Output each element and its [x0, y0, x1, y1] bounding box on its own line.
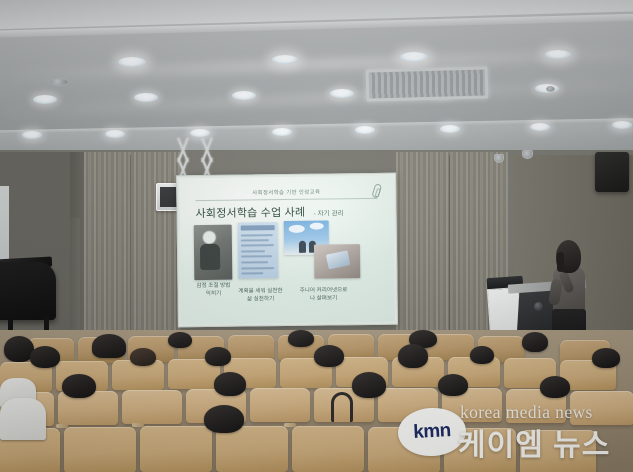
ceiling-light [545, 50, 571, 59]
cloud-shape [310, 223, 324, 230]
attendee-shoulder [0, 398, 46, 440]
armrest [56, 424, 68, 428]
photo-scene: 사회정서학습 기반 인성교육 사회정서학습 수업 사례 - 자기 관리 [0, 0, 633, 472]
ceiling-light [272, 128, 292, 136]
attendee-head [92, 334, 126, 358]
door-edge [70, 218, 80, 330]
attendee-head [205, 347, 231, 366]
ceiling-sheen [0, 46, 633, 82]
attendee-head [168, 332, 192, 348]
ceiling-light [612, 121, 632, 129]
watermark: kmn korea media news 케이엠 뉴스 [398, 396, 630, 468]
projection-screen: 사회정서학습 기반 인성교육 사회정서학습 수업 사례 - 자기 관리 [176, 173, 398, 328]
attendee-head [30, 346, 60, 368]
attendee-head [204, 405, 244, 433]
air-vent-icon [366, 66, 489, 101]
ceiling-light [118, 57, 146, 67]
worksheet-line [241, 267, 274, 269]
ceiling-light [22, 131, 42, 139]
sprinkler-icon [546, 86, 555, 92]
attendee-head [470, 346, 494, 364]
attendee-head [214, 372, 246, 396]
slide-subtitle: - 자기 관리 [313, 207, 343, 217]
worksheet-line [241, 272, 263, 274]
attendee-head [438, 374, 468, 396]
slide: 사회정서학습 기반 인성교육 사회정서학습 수업 사례 - 자기 관리 [179, 176, 395, 325]
armrest [132, 423, 144, 427]
bag-strap [331, 392, 353, 422]
sprinkler-icon [522, 150, 533, 159]
ceiling-light [355, 126, 375, 134]
ceiling-light [33, 95, 57, 104]
caption-line: 나 살펴보기 [285, 294, 363, 303]
tablet-shape [326, 250, 351, 269]
ceiling-sheen [0, 77, 633, 120]
watermark-badge-text: kmn [413, 420, 451, 444]
thumb-worksheet [238, 222, 279, 278]
attendee-head [62, 374, 96, 398]
podium-control-icon [534, 302, 543, 311]
watermark-badge: kmn [397, 406, 467, 457]
wall-panel [84, 152, 180, 344]
ceiling [0, 0, 633, 152]
seat [122, 390, 182, 424]
attendee-head [540, 376, 570, 398]
slide-title: 사회정서학습 수업 사례 [195, 204, 305, 221]
sprinkler-icon [49, 78, 69, 86]
worksheet-line [241, 239, 269, 241]
seat [250, 388, 310, 422]
thumb-tablet-photo [314, 244, 360, 279]
presenter-hair [556, 240, 581, 273]
worksheet-line [241, 250, 265, 252]
worksheet-header [241, 225, 275, 230]
seat [140, 426, 212, 472]
ceiling-light [272, 55, 298, 64]
seat [64, 427, 136, 472]
ceiling-light [190, 129, 210, 137]
ceiling-light [530, 123, 550, 131]
watermark-korean: 케이엠 뉴스 [458, 420, 610, 464]
armrest [284, 423, 296, 427]
worksheet-line [241, 234, 273, 236]
worksheet-line [241, 261, 268, 263]
ceiling-light [330, 89, 354, 98]
seat [292, 426, 364, 472]
attendee-head [398, 344, 428, 368]
slide-caption: 주니어 커리어넷으로 나 살펴보기 [284, 286, 362, 303]
ceiling-light [440, 125, 460, 133]
attendee-head [288, 330, 314, 347]
slide-caption: 계획을 세워 실천한 삶 실천하기 [232, 287, 288, 304]
attendee-head [130, 348, 156, 366]
cloud-shape [289, 225, 305, 233]
attendee-head [592, 348, 620, 368]
attendee-head [352, 372, 386, 398]
piano [0, 262, 56, 320]
figure-shape [299, 241, 306, 253]
sprinkler-icon [494, 154, 504, 163]
ceiling-light [105, 130, 125, 138]
worksheet-line [241, 255, 272, 257]
panel-seam [130, 155, 131, 341]
caption-line: 삶 실천하기 [233, 295, 289, 304]
attendee-head [314, 345, 344, 367]
thumb-emotion-photo [194, 225, 233, 280]
ceiling-light [134, 93, 158, 102]
panel-seam [449, 155, 450, 345]
wall-speaker [595, 152, 629, 192]
worksheet-line [241, 244, 274, 246]
ceiling-light [400, 52, 428, 62]
attendee-head [522, 332, 548, 352]
ceiling-light [232, 91, 256, 100]
